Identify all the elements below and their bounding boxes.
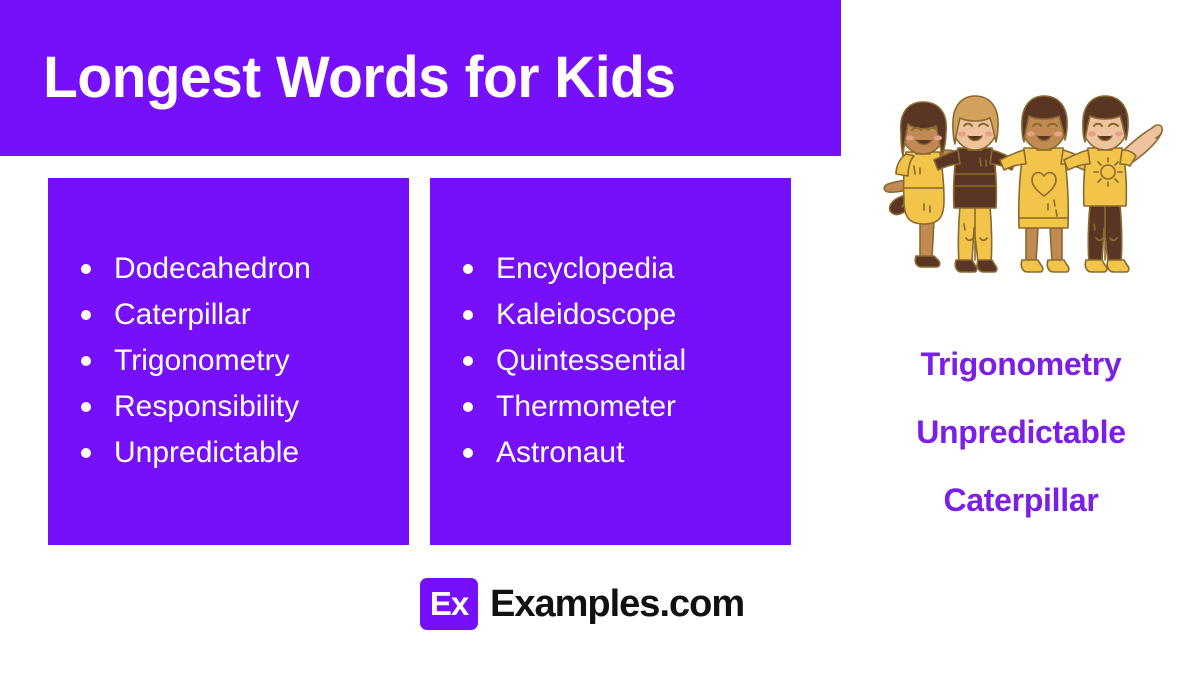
list-item: Encyclopedia [460,246,686,292]
list-item: Kaleidoscope [460,292,686,338]
list-item: Unpredictable [78,430,311,476]
highlight-word: Trigonometry [852,330,1190,398]
page-title: Longest Words for Kids [0,49,675,107]
highlight-word: Unpredictable [852,398,1190,466]
logo-mark-ex: Ex [420,578,478,630]
four-kids-illustration [858,88,1192,286]
list-item: Quintessential [460,338,686,384]
list-item: Responsibility [78,384,311,430]
list-item: Caterpillar [78,292,311,338]
left-word-card: Dodecahedron Caterpillar Trigonometry Re… [48,178,409,545]
list-item: Thermometer [460,384,686,430]
list-item: Astronaut [460,430,686,476]
list-item: Dodecahedron [78,246,311,292]
title-banner: Longest Words for Kids [0,0,841,156]
right-word-card: Encyclopedia Kaleidoscope Quintessential… [430,178,791,545]
right-word-list: Encyclopedia Kaleidoscope Quintessential… [460,246,686,476]
highlight-word: Caterpillar [852,466,1190,534]
examples-logo[interactable]: Ex Examples.com [420,578,744,630]
poster-canvas: Longest Words for Kids Dodecahedron Cate… [0,0,1200,675]
left-word-list: Dodecahedron Caterpillar Trigonometry Re… [78,246,311,476]
list-item: Trigonometry [78,338,311,384]
highlight-word-list: Trigonometry Unpredictable Caterpillar [852,330,1190,534]
logo-wordmark: Examples.com [490,585,744,623]
